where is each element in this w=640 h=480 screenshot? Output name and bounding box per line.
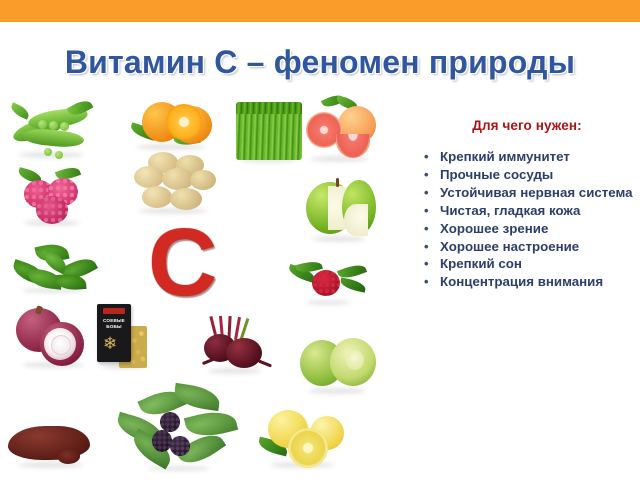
food-image-blackberries: [112, 384, 244, 476]
list-item: • Чистая, гладкая кожа: [418, 203, 636, 219]
bullet-icon: •: [424, 256, 429, 272]
food-image-oranges: [128, 98, 218, 154]
food-image-lemons: [258, 406, 350, 472]
food-image-green-peas: [8, 98, 98, 162]
list-item: • Прочные сосуды: [418, 167, 636, 183]
list-item: • Устойчивая нервная система: [418, 185, 636, 201]
list-item-label: Концентрация внимания: [440, 274, 603, 289]
food-image-red-onion: [14, 306, 94, 372]
food-image-raspberries: [14, 168, 92, 230]
food-image-asparagus: [236, 100, 302, 166]
list-item-label: Хорошее зрение: [440, 221, 548, 236]
list-item-label: Крепкий сон: [440, 256, 522, 271]
list-item-label: Хорошее настроение: [440, 239, 579, 254]
bullet-icon: •: [424, 239, 429, 255]
top-accent-bar: [0, 0, 640, 22]
list-item: • Хорошее зрение: [418, 221, 636, 237]
benefits-panel: Для чего нужен: • Крепкий иммунитет • Пр…: [418, 118, 636, 292]
slide-canvas: Витамин С – феномен природы: [0, 0, 640, 480]
list-item-label: Крепкий иммунитет: [440, 149, 570, 164]
benefits-list: • Крепкий иммунитет • Прочные сосуды • У…: [418, 149, 636, 291]
soy-label-line2: БОБЫ: [106, 324, 121, 329]
food-image-beetroot: [198, 316, 274, 378]
food-image-green-apple: [304, 178, 378, 248]
list-item-label: Прочные сосуды: [440, 167, 553, 182]
bullet-icon: •: [424, 185, 429, 201]
bullet-icon: •: [424, 274, 429, 290]
list-item: • Хорошее настроение: [418, 239, 636, 255]
food-image-spinach: [8, 242, 102, 298]
list-item-label: Чистая, гладкая кожа: [440, 203, 580, 218]
list-item-label: Устойчивая нервная система: [440, 185, 633, 200]
bullet-icon: •: [424, 149, 429, 165]
food-image-rosehip: [288, 262, 368, 308]
page-title: Витамин С – феномен природы: [0, 44, 640, 81]
soy-label-line1: СОЕВЫЕ: [103, 318, 125, 323]
list-item: • Крепкий сон: [418, 256, 636, 272]
bullet-icon: •: [424, 167, 429, 183]
food-image-cabbage: [298, 336, 378, 398]
list-item: • Крепкий иммунитет: [418, 149, 636, 165]
food-image-grapefruit: [302, 96, 378, 166]
bullet-icon: •: [424, 203, 429, 219]
list-item: • Концентрация внимания: [418, 274, 636, 290]
food-image-soy-beans-package: СОЕВЫЕ БОБЫ ❄: [97, 304, 151, 370]
vitamin-c-letter: C: [148, 222, 244, 306]
food-image-liver: [6, 422, 102, 472]
benefits-heading: Для чего нужен:: [418, 118, 636, 133]
bullet-icon: •: [424, 221, 429, 237]
